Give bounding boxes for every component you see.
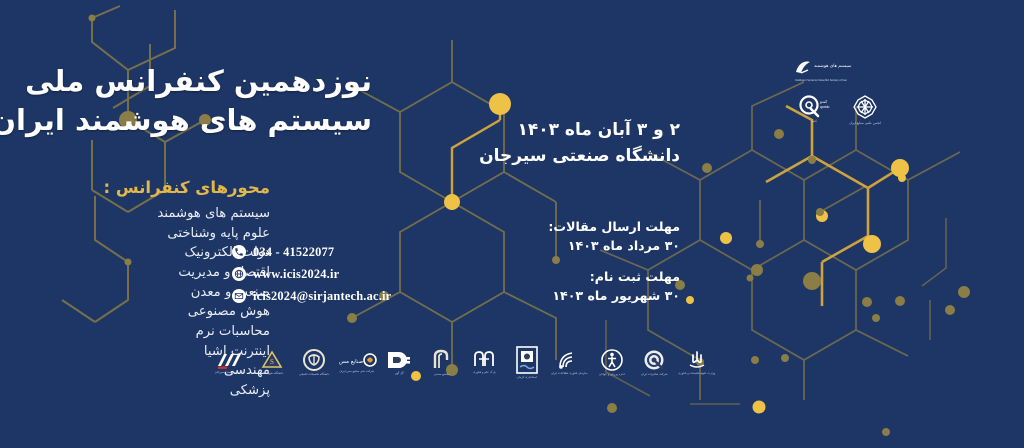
sponsor-caption: شرکت ملی صنایع مس ایران (339, 370, 374, 373)
sponsor-logo-1: دانشگاه صنعتی سیرجان (208, 340, 251, 384)
sponsor-logo-3: دانشگاه تحصیلات تکمیلی (293, 340, 336, 384)
deadline-label: مهلت ارسال مقالات: (440, 218, 680, 237)
globe-icon (232, 267, 246, 281)
conference-title: نوزدهمین کنفرانس ملی سیستم های هوشمند ای… (0, 62, 390, 140)
deadline-value: ۳۰ مرداد ماه ۱۴۰۳ (440, 237, 680, 256)
topic-item: اقتصاد و مدیریت (0, 263, 270, 283)
deadlines-section: مهلت ارسال مقالات: ۳۰ مرداد ماه ۱۴۰۳ مهل… (440, 218, 680, 318)
contact-phone-text: 034 - 41522077 (253, 245, 334, 260)
sponsor-5-icon (385, 349, 413, 371)
date-venue-section: ۲ و ۳ آبان ماه ۱۴۰۳ دانشگاه صنعتی سیرجان (430, 118, 680, 170)
deadline-registration: مهلت ثبت نام: ۳۰ شهریور ماه ۱۴۰۳ (440, 268, 680, 306)
contact-phone[interactable]: 034 - 41522077 (232, 243, 391, 261)
sponsor-logo-9: سازمان فناوری اطلاعات ایران (548, 340, 591, 384)
title-line-2: سیستم های هوشمند ایران (0, 101, 372, 140)
sponsor-8-icon (515, 345, 539, 375)
sponsor-logo-2: S دانشگاه شهید باهنر (251, 340, 294, 384)
sponsor-4-icon: صنایع مس (337, 351, 377, 369)
svg-text:صنایع مس: صنایع مس (339, 359, 363, 365)
topic-item: علوم پایه وشناختی (0, 224, 270, 244)
sponsor-logo-12: وزارت علوم تحقیقات و فناوری (676, 340, 719, 384)
sponsor-logo-4: صنایع مس شرکت ملی صنایع مس ایران (336, 340, 379, 384)
topic-item: صنعت و معدن (0, 283, 270, 303)
sponsor-2-icon: S (260, 349, 284, 371)
contact-website-text: www.icis2024.ir (253, 267, 339, 282)
qondo-logo: کندو qondo کندو (797, 94, 831, 124)
sponsor-logo-5: گل گهر (378, 340, 421, 384)
event-venue: دانشگاه صنعتی سیرجان (430, 144, 680, 170)
sponsor-caption: وزارت علوم تحقیقات و فناوری (678, 372, 715, 375)
sponsor-caption: مجتمع معدنی (434, 373, 450, 376)
topics-heading: محورهای کنفرانس : (0, 178, 270, 197)
event-date: ۲ و ۳ آبان ماه ۱۴۰۳ (430, 118, 680, 144)
svg-text:انجمن سیستم های هوشمند: انجمن سیستم های هوشمند (814, 64, 852, 69)
deadline-label: مهلت ثبت نام: (440, 268, 680, 287)
sponsor-9-icon (556, 349, 582, 371)
qondo-caption: کندو (811, 120, 817, 124)
sponsor-caption: دانشگاه تحصیلات تکمیلی (299, 373, 329, 376)
title-line-1: نوزدهمین کنفرانس ملی (0, 62, 372, 101)
octagon-caption: انجمن علمی صنایع ایران (849, 122, 881, 126)
contact-section: 034 - 41522077 www.icis2024.ir icis2024@… (232, 243, 391, 309)
svg-text:S: S (270, 358, 274, 366)
sponsor-caption: پارک علم و فناوری (473, 371, 496, 374)
envelope-icon (232, 289, 246, 303)
sponsor-logo-7: پارک علم و فناوری (463, 340, 506, 384)
topic-item: سیستم های هوشمند (0, 204, 270, 224)
sponsor-logo-10: اداره ورزش و جوانان (591, 340, 634, 384)
organizer-logos: انجمن سیستم های هوشمند Intelligent Syste… (764, 58, 914, 140)
sponsor-caption: دانشگاه صنعتی سیرجان (215, 371, 244, 374)
sponsor-10-icon (600, 348, 624, 372)
society-emblem-icon: انجمن سیستم های هوشمند (790, 58, 852, 78)
sponsor-logo-6: مجتمع معدنی (421, 340, 464, 384)
sponsor-caption: استانداری کرمان (517, 376, 537, 379)
sponsor-6-icon (430, 348, 454, 372)
sponsor-11-icon (642, 348, 666, 372)
sponsor-caption: شرکت مخابرات ایران (641, 373, 667, 376)
svg-text:qondo: qondo (820, 105, 830, 109)
sponsor-caption: دانشگاه شهید باهنر (260, 372, 283, 375)
octagon-star-icon (850, 94, 880, 120)
society-caption-en: Intelligent Systems Scientific Society o… (795, 79, 847, 82)
sponsor-7-icon (471, 350, 497, 370)
sponsor-caption: اداره ورزش و جوانان (599, 373, 625, 376)
sponsor-logo-11: شرکت مخابرات ایران (633, 340, 676, 384)
deadline-paper-submission: مهلت ارسال مقالات: ۳۰ مرداد ماه ۱۴۰۳ (440, 218, 680, 256)
contact-email-text: icis2024@sirjantech.ac.ir (253, 289, 391, 304)
topic-item: محاسبات نرم (0, 322, 270, 342)
q-mark-icon: کندو qondo (797, 94, 831, 118)
phone-icon (232, 245, 246, 259)
sponsor-logo-8: استانداری کرمان (506, 340, 549, 384)
contact-email[interactable]: icis2024@sirjantech.ac.ir (232, 287, 391, 305)
sponsor-1-icon (214, 350, 244, 370)
sponsor-12-icon (687, 349, 707, 371)
society-logo: انجمن سیستم های هوشمند Intelligent Syste… (790, 58, 852, 82)
sponsor-caption: سازمان فناوری اطلاعات ایران (551, 372, 587, 375)
topic-item: دولت الکترونیک (0, 243, 270, 263)
sponsor-caption: گل گهر (395, 372, 404, 375)
sponsor-3-icon (302, 348, 326, 372)
svg-text:کندو: کندو (819, 99, 827, 104)
topic-item: هوش مصنوعی (0, 302, 270, 322)
contact-website[interactable]: www.icis2024.ir (232, 265, 391, 283)
sponsor-logo-strip: دانشگاه صنعتی سیرجان S دانشگاه شهید باهن… (208, 340, 718, 384)
conference-banner: نوزدهمین کنفرانس ملی سیستم های هوشمند ای… (0, 0, 1024, 448)
deadline-value: ۳۰ شهریور ماه ۱۴۰۳ (440, 287, 680, 306)
octagon-star-logo: انجمن علمی صنایع ایران (849, 94, 881, 126)
